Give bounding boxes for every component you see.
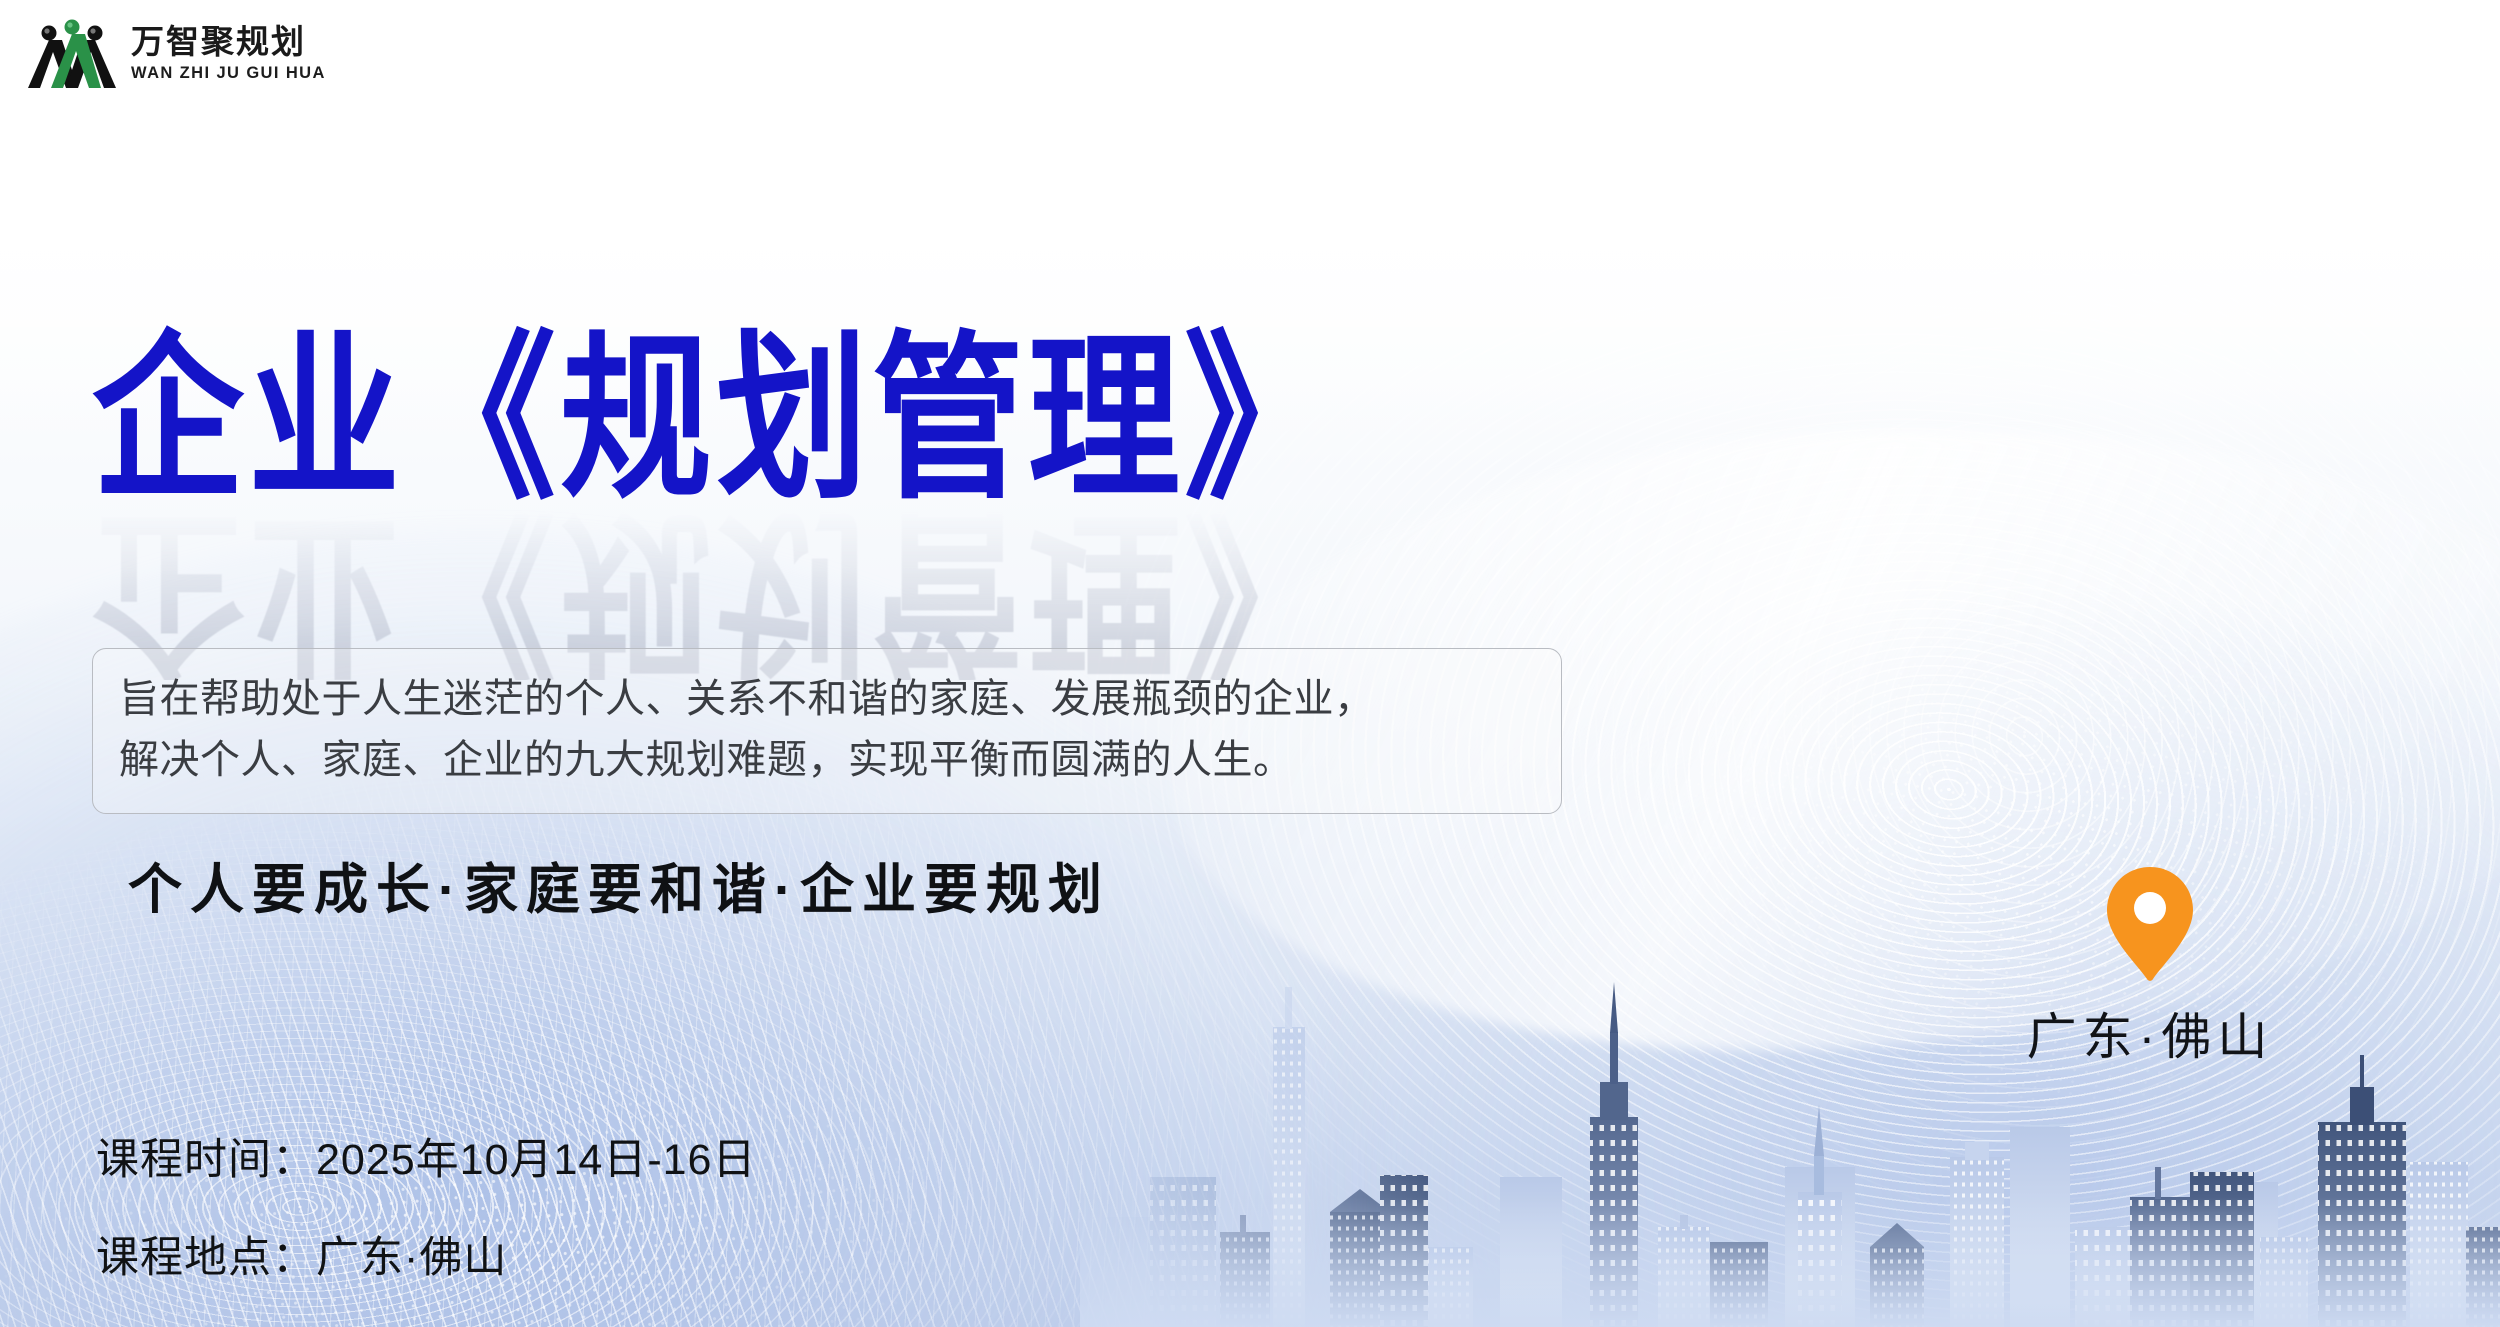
map-pin-icon	[2104, 865, 2196, 983]
hero-description-box: 旨在帮助处于人生迷茫的个人、关系不和谐的家庭、发展瓶颈的企业， 解决个人、家庭、…	[92, 648, 1562, 814]
hero-description-line-1: 旨在帮助处于人生迷茫的个人、关系不和谐的家庭、发展瓶颈的企业，	[119, 669, 1535, 730]
brand-logo[interactable]: 万智聚规划 WAN ZHI JU GUI HUA	[27, 18, 326, 90]
course-info-block: 课程时间：2025年10月14日-16日 课程地点：广东·佛山	[96, 1125, 756, 1285]
brand-name-en: WAN ZHI JU GUI HUA	[131, 64, 326, 84]
hero-tagline: 个人要成长·家庭要和谐·企业要规划	[128, 845, 1110, 924]
location-block: 广东·佛山	[1960, 865, 2340, 1069]
page-title: 企业《规划管理》	[92, 330, 1692, 509]
hero-description-line-2: 解决个人、家庭、企业的九大规划难题，实现平衡而圆满的人生。	[119, 730, 1535, 791]
course-time: 课程时间：2025年10月14日-16日	[96, 1125, 756, 1187]
course-place: 课程地点：广东·佛山	[96, 1223, 756, 1285]
location-label: 广东·佛山	[1960, 997, 2340, 1069]
brand-name-cn: 万智聚规划	[131, 25, 326, 62]
three-people-logo-icon	[27, 18, 117, 90]
brand-logo-text: 万智聚规划 WAN ZHI JU GUI HUA	[131, 25, 326, 84]
poster-canvas: 万智聚规划 WAN ZHI JU GUI HUA 企业《规划管理》 企业《规划管…	[0, 0, 2500, 1327]
